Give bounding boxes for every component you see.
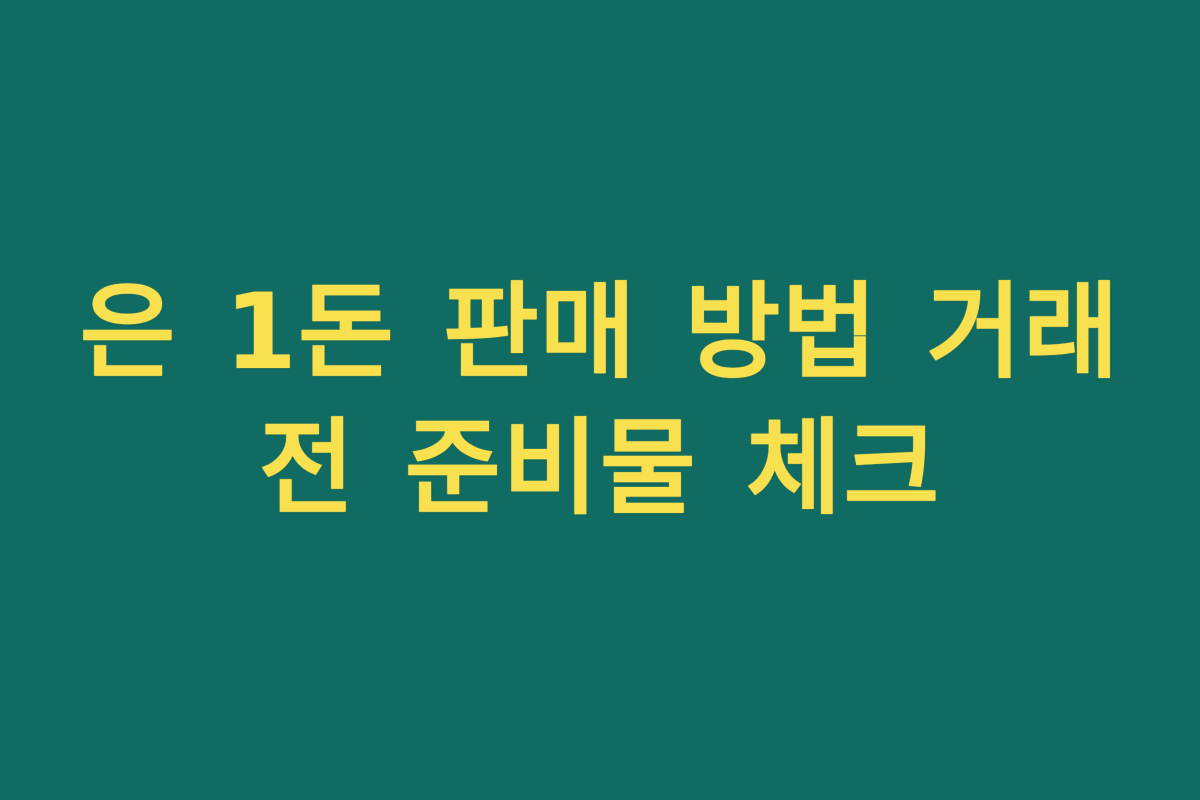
poster-canvas: 은 1돈 판매 방법 거래 전 준비물 체크: [0, 0, 1200, 800]
headline-text: 은 1돈 판매 방법 거래 전 준비물 체크: [60, 264, 1140, 536]
headline-line-2: 전 준비물 체크: [60, 400, 1140, 536]
headline-line-1: 은 1돈 판매 방법 거래: [60, 264, 1140, 400]
